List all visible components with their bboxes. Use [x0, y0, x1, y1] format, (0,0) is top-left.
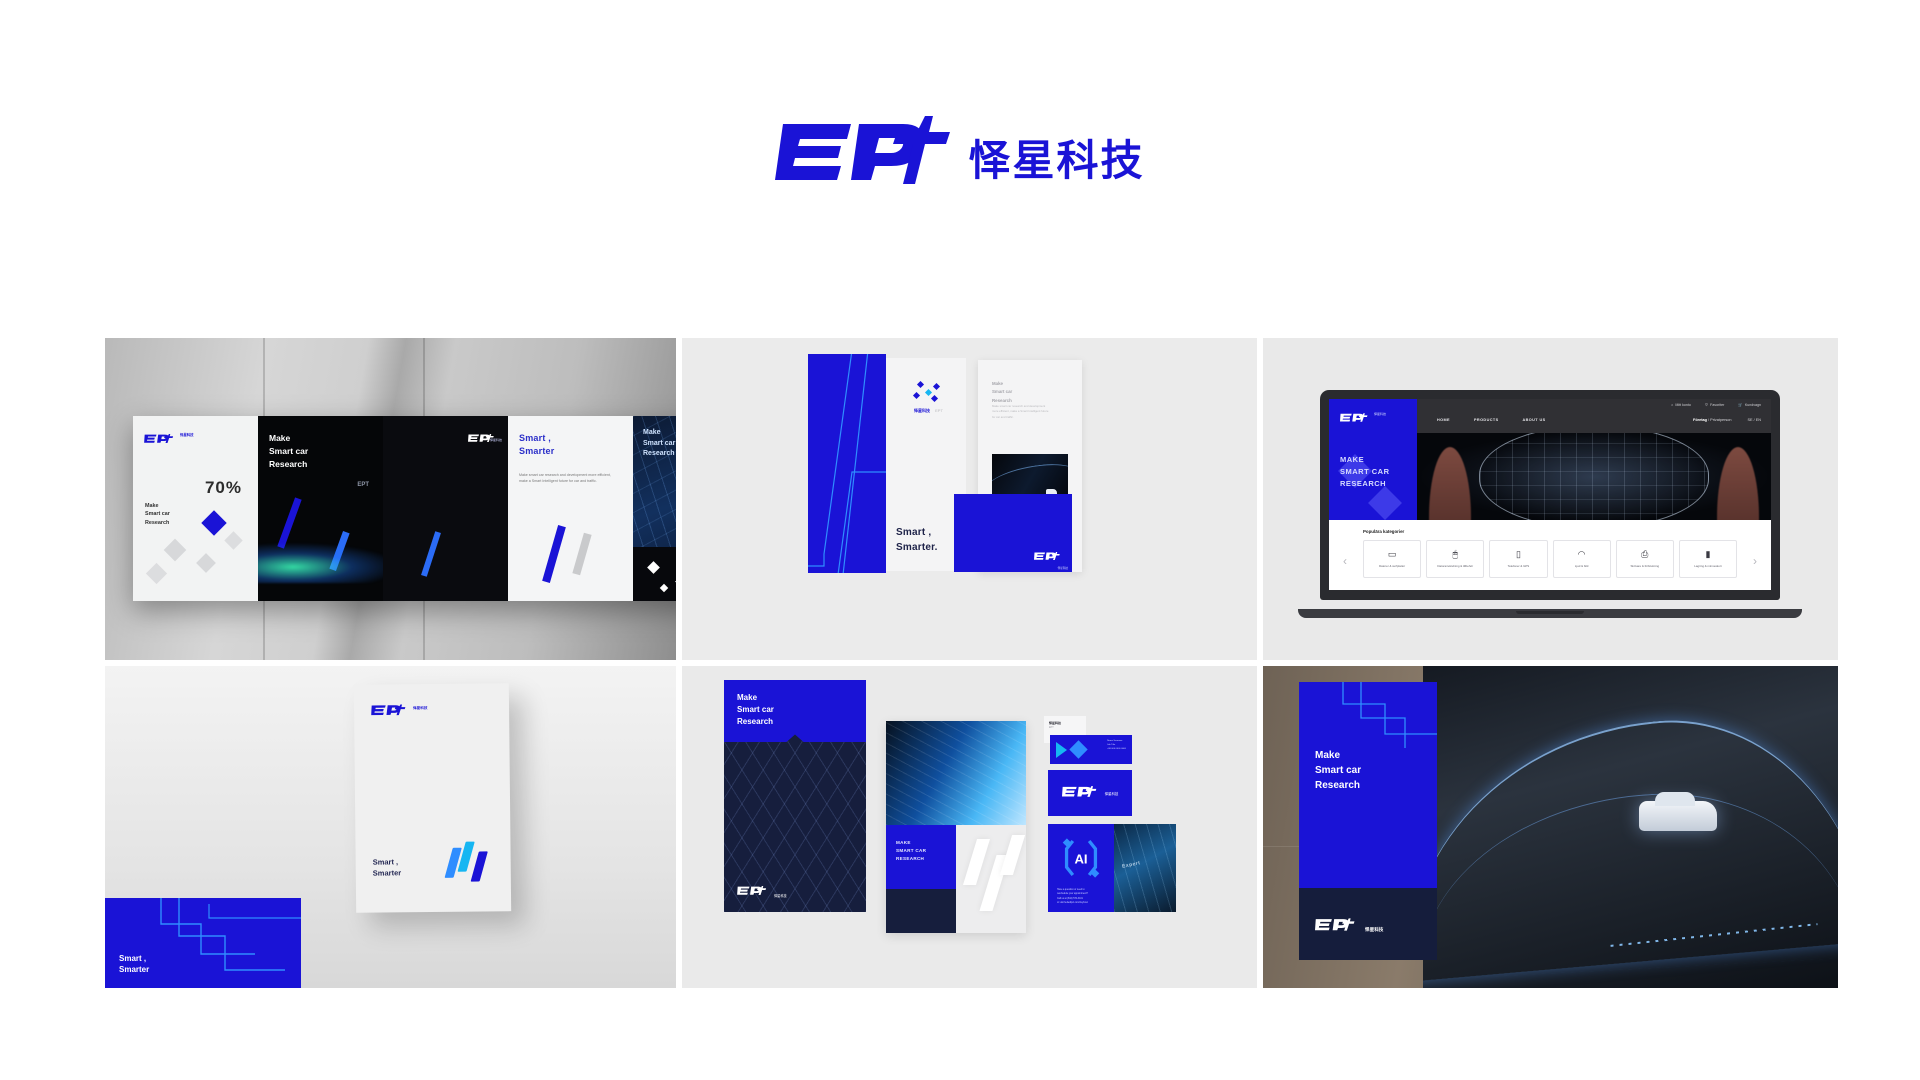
categories-row: ▭ Datorer & surfplattor 🖱 Datoranvändnin…: [1363, 540, 1737, 578]
poster-dark-logo: 怿星科技: [383, 416, 508, 601]
brochure-heading: MAKESMART CARRESEARCH: [896, 839, 926, 863]
presentation-folder: MakeSmart carResearch 怿星科技: [724, 680, 866, 912]
brand-showcase-grid: 怿星科技 70% MakeSmart carResearch MakeSmart…: [105, 338, 1832, 998]
brochure-blue-block: MAKESMART CARRESEARCH: [886, 825, 956, 889]
drive-icon: ▮: [1705, 550, 1710, 559]
nav-item-home[interactable]: HOME: [1437, 418, 1450, 422]
nav-item-products[interactable]: PRODUCTS: [1474, 418, 1499, 422]
poster-metric-value: 70%: [205, 478, 242, 498]
car-graphic: [1639, 801, 1717, 831]
cart-link[interactable]: 🛒 Kundvagn: [1738, 403, 1761, 407]
brochure-dark-block: [886, 889, 956, 933]
laptop-mockup: ⌂ Mitt konto ♡ Favoriter 🛒 Kundvagn: [1320, 390, 1780, 618]
poster-row: 怿星科技 70% MakeSmart carResearch MakeSmart…: [133, 416, 676, 601]
brochure-blue-cover: [808, 354, 886, 573]
letterhead-logo-cn: 怿星科技: [413, 706, 427, 711]
brochure-logo-cn: 怿星科技: [914, 408, 930, 413]
ai-card-blue-face: AI Have a question or need toreschedule …: [1048, 824, 1114, 912]
nav-item-about[interactable]: ABOUT US: [1523, 418, 1546, 422]
categories-title: Populära kategorier: [1363, 529, 1404, 534]
poster-title: MakeSmart carResearch: [643, 428, 675, 460]
panel-letterhead-banner: 怿星科技 Smart ,Smarter Smart ,Smarter: [105, 666, 676, 988]
poster-smart-smarter: Smart ,Smarter Make smart car research a…: [508, 416, 633, 601]
brand-slash-marks: [448, 841, 492, 885]
logo-lockup: 怿星科技: [775, 116, 1144, 184]
letterhead-sheet: 怿星科技 Smart ,Smarter: [354, 683, 511, 913]
printer-icon: ⎙: [1641, 550, 1648, 559]
poster-title: MakeSmart carResearch: [145, 502, 170, 527]
showroom-photo: [1423, 666, 1838, 988]
category-card[interactable]: ◠ Ljud & bild: [1553, 540, 1611, 578]
laptop-base: [1298, 609, 1802, 618]
ai-card: AI Have a question or need toreschedule …: [1048, 824, 1176, 912]
hand-graphic: [1429, 447, 1471, 520]
panel-stationery-set: MakeSmart carResearch 怿星科技 MAKESMART CAR…: [682, 666, 1257, 988]
poster-title: MakeSmart carResearch: [269, 432, 308, 470]
site-categories-section: Populära kategorier ‹ › ▭ Datorer & surf…: [1329, 520, 1771, 590]
category-card[interactable]: ▯ Telefoner & GPS: [1489, 540, 1547, 578]
site-meta: Företag / Privatperson SE / EN: [1693, 418, 1761, 422]
bar-shape-grey: [572, 533, 591, 576]
svg-text:AI: AI: [1074, 851, 1087, 866]
diamond-shape: [1368, 486, 1402, 520]
standing-banner: MakeSmart carResearch 怿星科技: [1299, 682, 1437, 960]
diamond-shape: [647, 561, 660, 574]
laptop-screen: ⌂ Mitt konto ♡ Favoriter 🛒 Kundvagn: [1329, 399, 1771, 590]
carousel-prev-button[interactable]: ‹: [1343, 554, 1347, 568]
poster-body: Make smart car research and development …: [519, 472, 611, 484]
account-link[interactable]: ⌂ Mitt konto: [1671, 403, 1691, 407]
poster-title: Smart ,Smarter: [519, 432, 554, 458]
poster-dark-streak: MakeSmart carResearch EPT: [258, 416, 383, 601]
category-label: Datorer & surfplattor: [1379, 564, 1405, 568]
category-label: Skrivare & förbrukning: [1630, 564, 1659, 568]
brochure-page-copy: Make smart car research and development …: [992, 404, 1050, 420]
ept-logo-small: [737, 882, 771, 900]
folder-logo-cn: 怿星科技: [1058, 566, 1068, 570]
business-card-front: 怿星科技 EPT Name SurnameJob Title+86 000 00…: [1044, 716, 1132, 764]
diamond-shape: [224, 531, 242, 549]
diamond-shape: [164, 539, 187, 562]
diamond-shape: [660, 584, 668, 592]
category-card[interactable]: ▮ Lagring & minneskort: [1679, 540, 1737, 578]
bar-shape: [277, 497, 301, 548]
banner-logo-cn: 怿星科技: [1365, 927, 1383, 933]
letterhead-caption: Smart ,Smarter: [373, 856, 402, 879]
ept-logo-small: [1315, 918, 1361, 936]
user-icon: ⌂: [1671, 403, 1673, 407]
site-utility-links: ⌂ Mitt konto ♡ Favoriter 🛒 Kundvagn: [1671, 403, 1761, 407]
category-card[interactable]: ▭ Datorer & surfplattor: [1363, 540, 1421, 578]
diamond-cluster-graphic: [914, 382, 946, 404]
banner-caption: Smart ,Smarter: [119, 953, 149, 976]
light-streak: [258, 543, 383, 583]
triangle-shape: [1056, 742, 1067, 758]
brochure-page-heading: MakeSmart carResearch: [992, 380, 1012, 405]
mouse-icon: 🖱: [1453, 550, 1458, 559]
laptop-icon: ▭: [1388, 550, 1397, 559]
diamond-shape: [201, 510, 226, 535]
carousel-next-button[interactable]: ›: [1753, 554, 1757, 568]
poster-logo-cn: 怿星科技: [490, 438, 502, 442]
ai-card-photo: Expert: [1114, 824, 1176, 912]
category-label: Ljud & bild: [1575, 564, 1589, 568]
card-logo-cn: 怿星科技: [1105, 791, 1119, 796]
diamond-shape: [675, 575, 676, 588]
folder-logo-cn: 怿星科技: [774, 893, 787, 898]
cart-icon: 🛒: [1738, 403, 1742, 407]
laptop-notch: [1516, 611, 1584, 614]
panel-poster-wall: 怿星科技 70% MakeSmart carResearch MakeSmart…: [105, 338, 676, 660]
brochure-logo-caption: 怿星科技 EPT: [914, 408, 943, 414]
panel-brochure-flatlay: 怿星科技 EPT MakeSmart carResearch Make smar…: [682, 338, 1257, 660]
ept-logo-small: [371, 702, 411, 720]
ept-logo-small: [144, 430, 178, 448]
ai-badge-icon: AI: [1060, 837, 1102, 879]
site-logo-cn: 怿星科技: [1374, 412, 1386, 416]
brand-logo-header: 怿星科技: [0, 0, 1920, 300]
ai-card-caption: Have a question or need toreschedule you…: [1057, 888, 1088, 905]
bar-shape: [542, 525, 566, 583]
car-xray-graphic: [1479, 433, 1709, 520]
diamond-shape: [196, 553, 216, 573]
brochure-caption: Smart ,Smarter.: [896, 526, 938, 555]
banner-blue: Smart ,Smarter: [105, 898, 301, 988]
hand-graphic: [1717, 447, 1759, 520]
business-card-back: 怿星科技: [1048, 770, 1132, 816]
site-brand-panel: 怿星科技 MAKESMART CARRESEARCH: [1329, 399, 1417, 520]
category-label: Lagring & minneskort: [1694, 564, 1721, 568]
ept-logo-small: [1062, 784, 1102, 802]
diamond-shape: [1069, 740, 1087, 758]
category-card[interactable]: ⎙ Skrivare & förbrukning: [1616, 540, 1674, 578]
logo-chinese-name: 怿星科技: [968, 140, 1144, 184]
poster-tech-grid: MakeSmart carResearch: [633, 416, 676, 601]
favorites-link[interactable]: ♡ Favoriter: [1705, 403, 1724, 407]
card-title: 怿星科技: [1049, 721, 1061, 725]
diamond-shape: [146, 563, 167, 584]
poster-black-band: [633, 547, 676, 601]
site-hero-heading: MAKESMART CARRESEARCH: [1340, 454, 1390, 490]
banner-heading: MakeSmart carResearch: [1315, 748, 1361, 793]
site-nav: HOME PRODUCTS ABOUT US: [1437, 418, 1546, 422]
poster-accent-label: EPT: [357, 482, 369, 488]
language-switch[interactable]: SE / EN: [1747, 418, 1761, 422]
site-hero-image: [1417, 433, 1771, 520]
brochure-hero-image: [886, 721, 1026, 825]
phone-icon: ▯: [1516, 550, 1521, 559]
audience-toggle[interactable]: Företag / Privatperson: [1693, 418, 1731, 422]
ept-logo-mark: [775, 116, 950, 184]
brochure-logo-latin: EPT: [935, 408, 943, 413]
laptop-lid: ⌂ Mitt konto ♡ Favoriter 🛒 Kundvagn: [1320, 390, 1780, 600]
brochure-blue-folder: 怿星科技: [954, 494, 1072, 572]
category-label: Datoranvändning & tillbehör: [1437, 564, 1473, 568]
card-contact-lines: Name SurnameJob Title+86 000 0000 0000: [1107, 740, 1126, 752]
category-label: Telefoner & GPS: [1508, 564, 1530, 568]
card-subtitle: EPT: [1049, 726, 1054, 729]
panel-showroom-banner: MakeSmart carResearch 怿星科技: [1263, 666, 1838, 988]
ept-logo-small: [1034, 547, 1064, 565]
heart-icon: ♡: [1705, 403, 1708, 407]
brochure-cover: MAKESMART CARRESEARCH: [886, 721, 1026, 933]
brochure-white-block: [956, 825, 1026, 933]
panel-laptop-website: ⌂ Mitt konto ♡ Favoriter 🛒 Kundvagn: [1263, 338, 1838, 660]
ai-card-watermark: Expert: [1122, 860, 1141, 870]
ept-logo-small: [1340, 409, 1372, 427]
headphones-icon: ◠: [1578, 550, 1586, 559]
category-card[interactable]: 🖱 Datoranvändning & tillbehör: [1426, 540, 1484, 578]
folder-heading: MakeSmart carResearch: [737, 692, 774, 728]
poster-logo-cn: 怿星科技: [180, 432, 194, 437]
bar-shape: [421, 531, 441, 577]
card-blue-face: Name SurnameJob Title+86 000 0000 0000: [1050, 735, 1132, 764]
poster-metric: 怿星科技 70% MakeSmart carResearch: [133, 416, 258, 601]
